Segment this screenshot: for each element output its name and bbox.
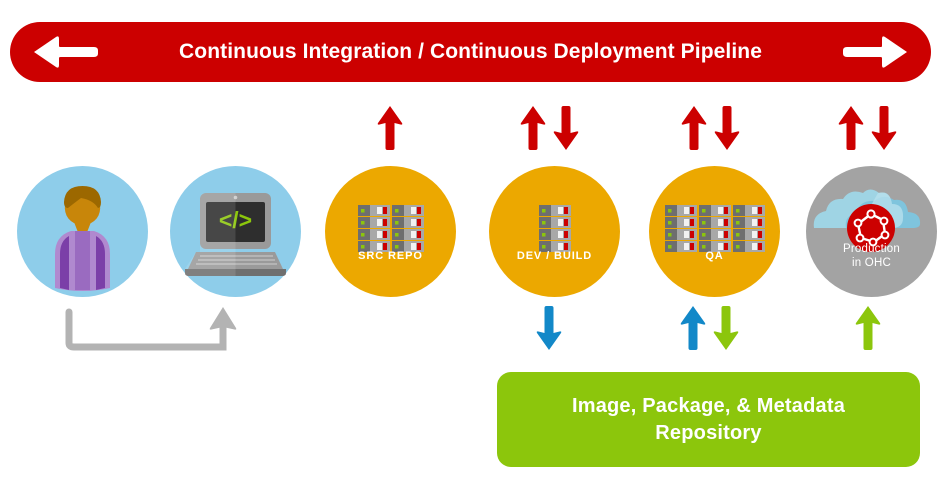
node-dev-build[interactable]: DEV / BUILD bbox=[489, 166, 620, 297]
node-developer[interactable] bbox=[17, 166, 148, 297]
server-rack-icon bbox=[325, 166, 456, 297]
pipeline-arrow-production-down bbox=[871, 105, 897, 151]
repo-arrow-dev-build-down bbox=[536, 305, 562, 351]
cicd-pipeline-diagram: Continuous Integration / Continuous Depl… bbox=[0, 0, 941, 500]
node-src-repo[interactable]: SRC REPO bbox=[325, 166, 456, 297]
pipeline-arrow-qa-up bbox=[681, 105, 707, 151]
repository-label: Image, Package, & Metadata Repository bbox=[497, 372, 920, 467]
node-label-src-repo: SRC REPO bbox=[325, 249, 456, 263]
pipeline-arrow-dev-build-up bbox=[520, 105, 546, 151]
server-rack-icon bbox=[489, 166, 620, 297]
repository-label-line1: Image, Package, & Metadata bbox=[572, 393, 845, 420]
node-qa[interactable]: QA bbox=[649, 166, 780, 297]
pipeline-arrow-dev-build-down bbox=[553, 105, 579, 151]
node-production[interactable]: Production in OHC bbox=[806, 166, 937, 297]
pipeline-arrow-production-up bbox=[838, 105, 864, 151]
repo-arrow-production-up bbox=[855, 305, 881, 351]
developer-to-workstation-connector bbox=[60, 300, 250, 360]
repo-arrow-qa-down bbox=[713, 305, 739, 351]
node-label-production: Production in OHC bbox=[806, 242, 937, 270]
node-label-production-line2: in OHC bbox=[806, 256, 937, 270]
pipeline-banner: Continuous Integration / Continuous Depl… bbox=[10, 22, 931, 82]
node-label-production-line1: Production bbox=[806, 242, 937, 256]
pipeline-arrow-qa-down bbox=[714, 105, 740, 151]
node-label-qa: QA bbox=[649, 249, 780, 263]
pipeline-arrow-src-repo-up bbox=[377, 105, 403, 151]
repository-box[interactable]: Image, Package, & Metadata Repository bbox=[497, 372, 920, 467]
repository-label-line2: Repository bbox=[655, 420, 761, 447]
repo-arrow-qa-up bbox=[680, 305, 706, 351]
node-workstation[interactable]: </> bbox=[170, 166, 301, 297]
person-icon bbox=[17, 166, 148, 297]
arrow-right-icon bbox=[841, 35, 909, 69]
pipeline-banner-title: Continuous Integration / Continuous Depl… bbox=[10, 22, 931, 82]
laptop-code-icon: </> bbox=[170, 166, 301, 297]
cloud-openshift-icon bbox=[806, 166, 937, 297]
server-rack-icon bbox=[649, 166, 780, 297]
node-label-dev-build: DEV / BUILD bbox=[489, 249, 620, 263]
arrow-up-icon bbox=[210, 307, 237, 330]
